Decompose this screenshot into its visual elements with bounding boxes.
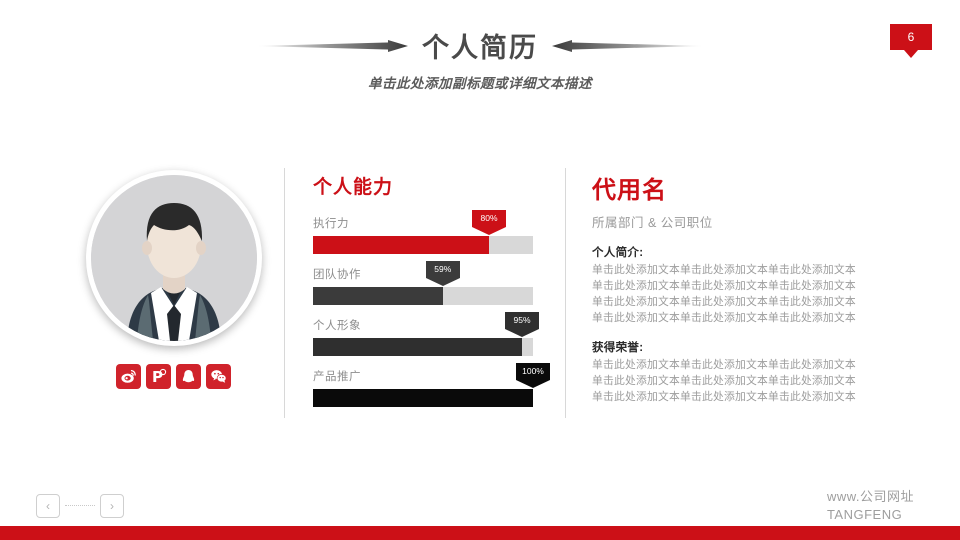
skill-fill (313, 338, 522, 356)
skill-item: 产品推广 100% (313, 368, 533, 407)
avatar-column: P (86, 170, 261, 389)
next-button[interactable]: › (100, 494, 124, 518)
person-name: 代用名 (592, 170, 912, 205)
wechat-icon[interactable] (206, 364, 231, 389)
skill-percent-badge: 80% (472, 210, 506, 227)
footer-website: www.公司网址 (827, 488, 914, 506)
skill-label: 产品推广 (313, 368, 533, 384)
footer-brand: www.公司网址 TANGFENG (827, 488, 914, 524)
qq-icon[interactable] (176, 364, 201, 389)
section-line: 单击此处添加文本单击此处添加文本单击此处添加文本 (592, 357, 912, 373)
skills-heading: 个人能力 (313, 172, 533, 199)
skill-track: 80% (313, 236, 533, 254)
pinterest-icon[interactable]: P (146, 364, 171, 389)
slide-navigation: ‹ › (36, 494, 124, 518)
section-heading: 获得荣誉: (592, 339, 912, 355)
profile-column: 代用名 所属部门 & 公司职位 个人简介: 单击此处添加文本单击此处添加文本单击… (592, 170, 912, 405)
skill-percent-badge: 100% (516, 363, 550, 380)
column-divider-right (565, 168, 566, 418)
prev-button[interactable]: ‹ (36, 494, 60, 518)
skills-column: 个人能力 执行力 80% 团队协作 59% 个人形象 95% 产品推广 (313, 172, 533, 419)
section-line: 单击此处添加文本单击此处添加文本单击此处添加文本 (592, 262, 912, 278)
footer-company: TANGFENG (827, 506, 914, 524)
right-arrow-decoration (552, 40, 704, 52)
skill-percent-badge: 59% (426, 261, 460, 278)
weibo-icon[interactable] (116, 364, 141, 389)
skill-track: 95% (313, 338, 533, 356)
skill-label: 个人形象 (313, 317, 533, 333)
skill-fill (313, 236, 489, 254)
section-line: 单击此处添加文本单击此处添加文本单击此处添加文本 (592, 389, 912, 405)
skill-label: 团队协作 (313, 266, 533, 282)
section-line: 单击此处添加文本单击此处添加文本单击此处添加文本 (592, 310, 912, 326)
skill-item: 团队协作 59% (313, 266, 533, 305)
left-arrow-decoration (256, 40, 408, 52)
section-line: 单击此处添加文本单击此处添加文本单击此处添加文本 (592, 278, 912, 294)
skill-item: 执行力 80% (313, 215, 533, 254)
skill-track: 100% (313, 389, 533, 407)
skill-fill (313, 389, 533, 407)
skill-fill (313, 287, 443, 305)
title-row: 个人简历 (0, 26, 960, 65)
page-title: 个人简历 (422, 26, 538, 65)
section-line: 单击此处添加文本单击此处添加文本单击此处添加文本 (592, 373, 912, 389)
skill-track: 59% (313, 287, 533, 305)
person-role: 所属部门 & 公司职位 (592, 212, 912, 231)
skill-percent-badge: 95% (505, 312, 539, 329)
slide-content: P (0, 158, 960, 428)
nav-connector (65, 505, 95, 507)
section-line: 单击此处添加文本单击此处添加文本单击此处添加文本 (592, 294, 912, 310)
section-heading: 个人简介: (592, 244, 912, 260)
slide-header: 个人简历 单击此处添加副标题或详细文本描述 (0, 26, 960, 92)
page-subtitle: 单击此处添加副标题或详细文本描述 (0, 72, 960, 92)
avatar (86, 170, 262, 346)
skill-item: 个人形象 95% (313, 317, 533, 356)
column-divider-left (284, 168, 285, 418)
bottom-accent-bar (0, 526, 960, 540)
social-icons: P (86, 364, 261, 389)
